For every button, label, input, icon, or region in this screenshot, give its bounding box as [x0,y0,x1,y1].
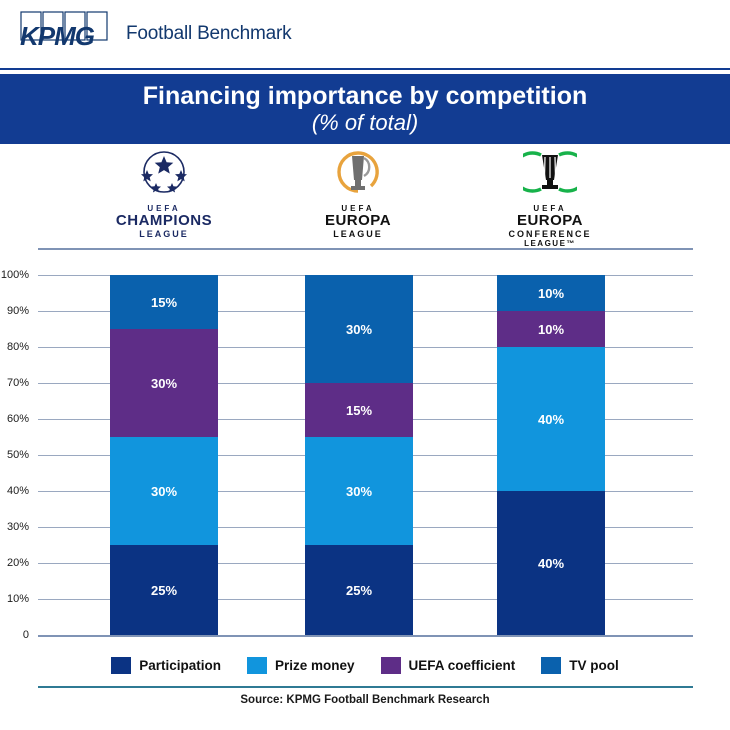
bar-segment: 30% [305,275,413,383]
logo-competition-name: EUROPA [508,213,591,228]
gridline [38,635,693,637]
logo-competition-name: EUROPA [325,213,391,228]
bar-1: 25%30%15%30% [305,275,413,635]
legend-label: UEFA coefficient [409,658,516,673]
logo-competition-sub2: LEAGUE™ [508,240,591,248]
y-axis-tick-label: 80% [7,341,29,353]
y-axis-tick-label: 60% [7,413,29,425]
source-note: Source: KPMG Football Benchmark Research [0,694,730,706]
bar-segment: 30% [110,329,218,437]
y-axis-tick-label: 70% [7,377,29,389]
uefa-europa-conference-league-trophy-icon [523,150,577,203]
chart-legend: ParticipationPrize moneyUEFA coefficient… [0,650,730,680]
legend-item: TV pool [541,657,619,674]
page-subtitle: (% of total) [312,110,418,135]
header-divider [38,248,693,250]
logo-competition-sub: CONFERENCE [508,230,591,239]
competition-logo-europa-conference-league: UEFA EUROPA CONFERENCE LEAGUE™ [470,150,630,246]
bar-segment: 25% [305,545,413,635]
bar-segment: 15% [305,383,413,437]
svg-text:KPMG: KPMG [20,21,95,51]
logo-competition-sub: LEAGUE [325,230,391,239]
kpmg-logo: KPMG [20,11,112,57]
y-axis-tick-label: 30% [7,521,29,533]
uefa-europa-league-trophy-icon [331,150,385,203]
logo-competition-sub: LEAGUE [116,230,212,239]
legend-label: TV pool [569,658,619,673]
stacked-bar-chart: 010%20%30%40%50%60%70%80%90%100% 25%30%3… [0,262,730,642]
y-axis-tick-label: 0 [23,629,29,641]
bar-segment: 40% [497,491,605,635]
y-axis-tick-label: 10% [7,593,29,605]
bar-2: 40%40%10%10% [497,275,605,635]
legend-item: UEFA coefficient [381,657,516,674]
bar-segment: 15% [110,275,218,329]
competition-logos-row: UEFA CHAMPIONS LEAGUE UEFA EUROPA LEAGUE [0,150,730,246]
competition-logo-europa-league: UEFA EUROPA LEAGUE [278,150,438,246]
legend-swatch [111,657,131,674]
bar-segment: 10% [497,311,605,347]
legend-item: Participation [111,657,221,674]
legend-label: Prize money [275,658,355,673]
bar-segment: 30% [305,437,413,545]
bar-segment: 25% [110,545,218,635]
y-axis-tick-label: 40% [7,485,29,497]
legend-swatch [381,657,401,674]
chart-title-banner: Financing importance by competition (% o… [0,74,730,144]
bar-segment: 10% [497,275,605,311]
bar-segment: 30% [110,437,218,545]
y-axis-tick-label: 50% [7,449,29,461]
y-axis-tick-label: 20% [7,557,29,569]
chart-plot-area: 010%20%30%40%50%60%70%80%90%100% 25%30%3… [38,275,693,635]
brand-title: Football Benchmark [126,23,291,45]
page-header: KPMG Football Benchmark [0,0,730,70]
bar-0: 25%30%30%15% [110,275,218,635]
logo-competition-name: CHAMPIONS [116,213,212,228]
legend-swatch [541,657,561,674]
y-axis-tick-label: 100% [1,269,29,281]
competition-logo-champions-league: UEFA CHAMPIONS LEAGUE [84,150,244,246]
legend-label: Participation [139,658,221,673]
bar-segment: 40% [497,347,605,491]
uefa-champions-league-starball-icon [137,150,191,203]
legend-item: Prize money [247,657,355,674]
page-title: Financing importance by competition [143,83,587,111]
footer-divider [38,686,693,688]
legend-swatch [247,657,267,674]
y-axis-tick-label: 90% [7,305,29,317]
